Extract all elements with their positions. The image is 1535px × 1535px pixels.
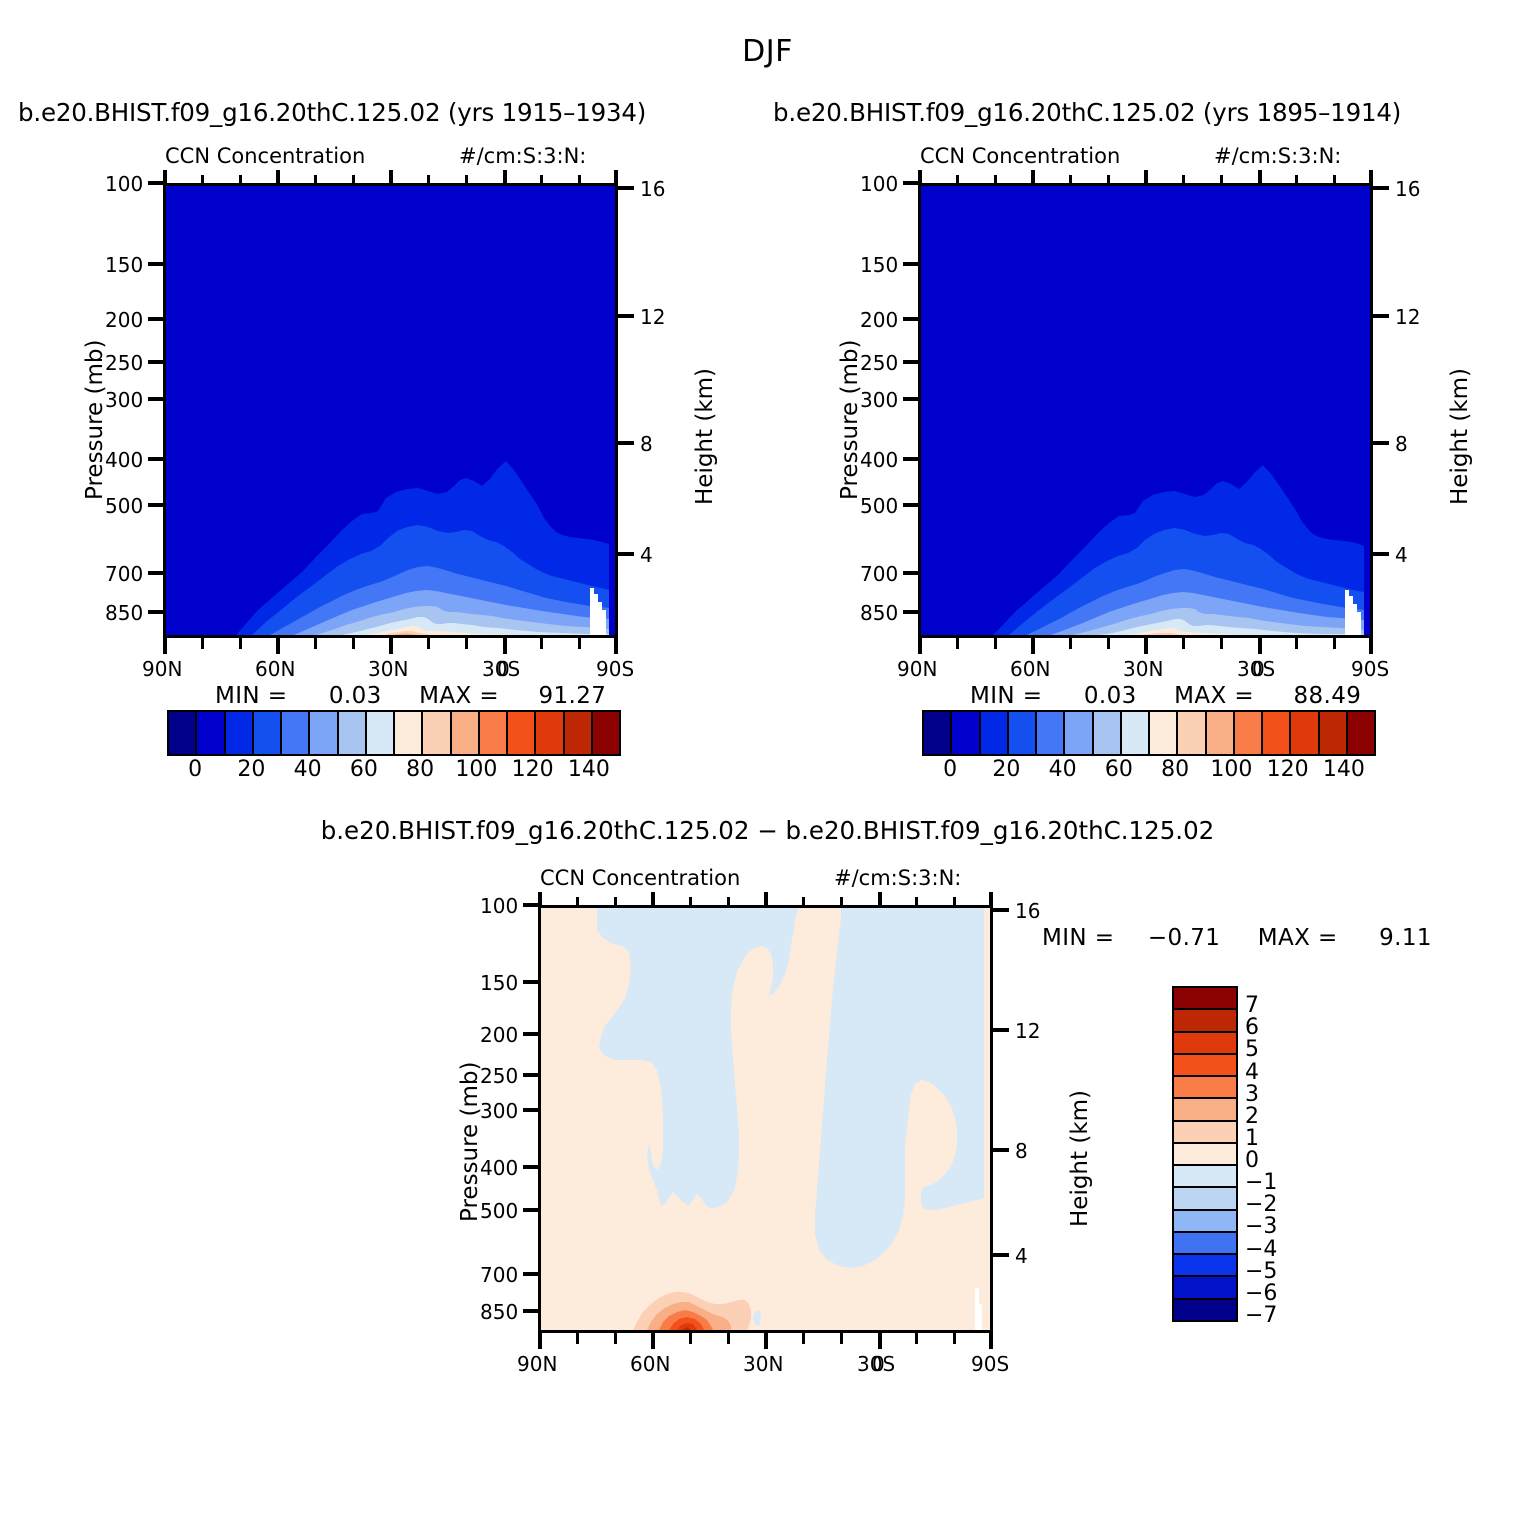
colorbar-swatch xyxy=(169,712,197,754)
colorbar-swatch xyxy=(1174,1077,1236,1099)
y2tick-4: 4 xyxy=(1015,1244,1028,1268)
colorbar-swatch xyxy=(1174,1277,1236,1299)
ytick-250: 250 xyxy=(860,351,898,375)
colorbar-swatch xyxy=(367,712,395,754)
colorbar-swatch xyxy=(1174,1211,1236,1233)
colorbar-tick-label: 80 xyxy=(406,757,434,782)
panel-left-minmax: MIN = 0.03 MAX = 91.27 xyxy=(215,683,606,709)
colorbar-swatch xyxy=(1174,1099,1236,1121)
panel-left-y2label: Height (km) xyxy=(692,368,718,505)
colorbar-tick-label: 140 xyxy=(1323,757,1365,782)
ytick-850: 850 xyxy=(860,601,898,625)
ytick-400: 400 xyxy=(105,448,143,472)
xtick-30N: 30N xyxy=(743,1352,783,1376)
colorbar-tick-label: 20 xyxy=(992,757,1020,782)
colorbar-swatch xyxy=(282,712,310,754)
y2tick-16: 16 xyxy=(640,177,665,201)
ytick-700: 700 xyxy=(105,562,143,586)
colorbar-swatch xyxy=(1174,1255,1236,1277)
colorbar-right-ticklabels: 020406080100120140 xyxy=(922,757,1372,787)
ytick-300: 300 xyxy=(105,388,143,412)
xtick-90S: 90S xyxy=(596,657,634,681)
panel-left-units-label: #/cm:S:3:N: xyxy=(459,144,586,168)
colorbar-swatch xyxy=(226,712,254,754)
colorbar-swatch xyxy=(1174,1010,1236,1032)
colorbar-tick-label: 120 xyxy=(512,757,554,782)
colorbar-diff[interactable] xyxy=(1172,986,1238,1322)
colorbar-tick-label: 20 xyxy=(237,757,265,782)
panel-right-y2label: Height (km) xyxy=(1447,368,1473,505)
colorbar-tick-label: 140 xyxy=(568,757,610,782)
ytick-100: 100 xyxy=(105,172,143,196)
panel-right-units-label: #/cm:S:3:N: xyxy=(1214,144,1341,168)
colorbar-swatch xyxy=(1009,712,1037,754)
colorbar-swatch xyxy=(423,712,451,754)
y2tick-16: 16 xyxy=(1395,177,1420,201)
panel-right-minmax: MIN = 0.03 MAX = 88.49 xyxy=(970,683,1361,709)
y2tick-4: 4 xyxy=(1395,543,1408,567)
ytick-850: 850 xyxy=(480,1300,518,1324)
max-value: 91.27 xyxy=(538,683,606,709)
colorbar-swatch xyxy=(565,712,593,754)
ytick-300: 300 xyxy=(480,1099,518,1123)
ytick-250: 250 xyxy=(105,351,143,375)
ytick-700: 700 xyxy=(860,562,898,586)
colorbar-swatch xyxy=(1263,712,1291,754)
xtick-30S: 30S xyxy=(1237,657,1275,681)
xtick-90N: 90N xyxy=(142,657,182,681)
min-label: MIN = xyxy=(970,683,1042,709)
xtick-30N: 30N xyxy=(1123,657,1163,681)
panel-diff-minmax: MIN = −0.71 MAX = 9.11 xyxy=(1042,925,1432,951)
xtick-90S: 90S xyxy=(1351,657,1389,681)
ytick-500: 500 xyxy=(480,1199,518,1223)
ytick-500: 500 xyxy=(105,494,143,518)
colorbar-swatch xyxy=(1174,1122,1236,1144)
min-value: 0.03 xyxy=(1084,683,1137,709)
y2tick-4: 4 xyxy=(640,543,653,567)
panel-right-plot-area xyxy=(918,183,1373,638)
max-label: MAX = xyxy=(419,683,499,709)
ytick-100: 100 xyxy=(480,894,518,918)
panel-diff-plot-area xyxy=(538,905,993,1333)
y2tick-12: 12 xyxy=(640,305,665,329)
colorbar-swatch xyxy=(1094,712,1122,754)
colorbar-swatch xyxy=(1174,1166,1236,1188)
ytick-300: 300 xyxy=(860,388,898,412)
y2tick-12: 12 xyxy=(1395,305,1420,329)
case-title-left: b.e20.BHIST.f09_g16.20thC.125.02 (yrs 19… xyxy=(18,98,646,127)
min-value: −0.71 xyxy=(1148,925,1220,951)
colorbar-swatch xyxy=(452,712,480,754)
colorbar-swatch xyxy=(1291,712,1319,754)
colorbar-swatch xyxy=(952,712,980,754)
colorbar-swatch xyxy=(1174,1033,1236,1055)
colorbar-swatch xyxy=(1037,712,1065,754)
colorbar-tick-label: −7 xyxy=(1245,1303,1277,1328)
colorbar-swatch xyxy=(1174,988,1236,1010)
colorbar-swatch xyxy=(395,712,423,754)
y2tick-16: 16 xyxy=(1015,899,1040,923)
xtick-30N: 30N xyxy=(368,657,408,681)
ytick-150: 150 xyxy=(105,253,143,277)
colorbar-tick-label: 120 xyxy=(1267,757,1309,782)
ytick-400: 400 xyxy=(480,1156,518,1180)
y2tick-8: 8 xyxy=(640,432,653,456)
colorbar-swatch xyxy=(254,712,282,754)
ytick-400: 400 xyxy=(860,448,898,472)
ytick-150: 150 xyxy=(480,971,518,995)
colorbar-right[interactable] xyxy=(922,710,1376,756)
colorbar-tick-label: 60 xyxy=(350,757,378,782)
figure-title: DJF xyxy=(0,34,1535,69)
case-title-right: b.e20.BHIST.f09_g16.20thC.125.02 (yrs 18… xyxy=(773,98,1401,127)
panel-diff-variable-label: CCN Concentration xyxy=(540,866,740,890)
colorbar-swatch xyxy=(1348,712,1374,754)
colorbar-swatch xyxy=(1174,1055,1236,1077)
colorbar-tick-label: 100 xyxy=(1210,757,1252,782)
xtick-90N: 90N xyxy=(517,1352,557,1376)
colorbar-swatch xyxy=(1122,712,1150,754)
colorbar-swatch xyxy=(508,712,536,754)
colorbar-swatch xyxy=(1150,712,1178,754)
ytick-700: 700 xyxy=(480,1263,518,1287)
ytick-500: 500 xyxy=(860,494,898,518)
colorbar-swatch xyxy=(1174,1144,1236,1166)
xtick-30S: 30S xyxy=(482,657,520,681)
max-label: MAX = xyxy=(1258,925,1338,951)
colorbar-tick-label: 40 xyxy=(1049,757,1077,782)
colorbar-swatch xyxy=(310,712,338,754)
colorbar-left-ticklabels: 020406080100120140 xyxy=(167,757,617,787)
colorbar-tick-label: 0 xyxy=(188,757,202,782)
max-value: 88.49 xyxy=(1293,683,1361,709)
colorbar-swatch xyxy=(1065,712,1093,754)
colorbar-swatch xyxy=(197,712,225,754)
xtick-60N: 60N xyxy=(255,657,295,681)
colorbar-tick-label: 0 xyxy=(943,757,957,782)
panel-right-variable-label: CCN Concentration xyxy=(920,144,1120,168)
colorbar-swatch xyxy=(536,712,564,754)
ytick-200: 200 xyxy=(480,1023,518,1047)
xtick-90S: 90S xyxy=(971,1352,1009,1376)
y2tick-8: 8 xyxy=(1395,432,1408,456)
colorbar-tick-label: 80 xyxy=(1161,757,1189,782)
colorbar-tick-label: 100 xyxy=(455,757,497,782)
colorbar-swatch xyxy=(1235,712,1263,754)
diff-panel-title: b.e20.BHIST.f09_g16.20thC.125.02 − b.e20… xyxy=(0,816,1535,845)
colorbar-swatch xyxy=(1320,712,1348,754)
ytick-100: 100 xyxy=(860,172,898,196)
colorbar-diff-ticklabels: 76543210−1−2−3−4−5−6−7 xyxy=(1245,986,1305,1318)
colorbar-swatch xyxy=(1178,712,1206,754)
min-value: 0.03 xyxy=(329,683,382,709)
panel-diff-contour-field xyxy=(541,908,990,1330)
xtick-30S: 30S xyxy=(857,1352,895,1376)
colorbar-swatch xyxy=(924,712,952,754)
max-label: MAX = xyxy=(1174,683,1254,709)
ytick-200: 200 xyxy=(860,308,898,332)
colorbar-swatch xyxy=(981,712,1009,754)
xtick-60N: 60N xyxy=(630,1352,670,1376)
ytick-200: 200 xyxy=(105,308,143,332)
colorbar-tick-label: 40 xyxy=(294,757,322,782)
xtick-60N: 60N xyxy=(1010,657,1050,681)
colorbar-swatch xyxy=(1174,1188,1236,1210)
colorbar-swatch xyxy=(593,712,619,754)
colorbar-swatch xyxy=(1174,1233,1236,1255)
min-label: MIN = xyxy=(1042,925,1114,951)
ytick-250: 250 xyxy=(480,1064,518,1088)
panel-left-variable-label: CCN Concentration xyxy=(165,144,365,168)
colorbar-tick-label: 60 xyxy=(1105,757,1133,782)
ytick-850: 850 xyxy=(105,601,143,625)
panel-diff-y2label: Height (km) xyxy=(1067,1090,1093,1227)
y2tick-8: 8 xyxy=(1015,1139,1028,1163)
min-label: MIN = xyxy=(215,683,287,709)
xtick-90N: 90N xyxy=(897,657,937,681)
panel-diff-units-label: #/cm:S:3:N: xyxy=(834,866,961,890)
colorbar-swatch xyxy=(339,712,367,754)
colorbar-left[interactable] xyxy=(167,710,621,756)
colorbar-swatch xyxy=(1207,712,1235,754)
panel-left-plot-area xyxy=(163,183,618,638)
panel-right-contour-field xyxy=(921,186,1370,635)
ytick-150: 150 xyxy=(860,253,898,277)
colorbar-swatch xyxy=(1174,1300,1236,1320)
colorbar-swatch xyxy=(480,712,508,754)
max-value: 9.11 xyxy=(1379,925,1432,951)
panel-left-contour-field xyxy=(166,186,615,635)
y2tick-12: 12 xyxy=(1015,1019,1040,1043)
